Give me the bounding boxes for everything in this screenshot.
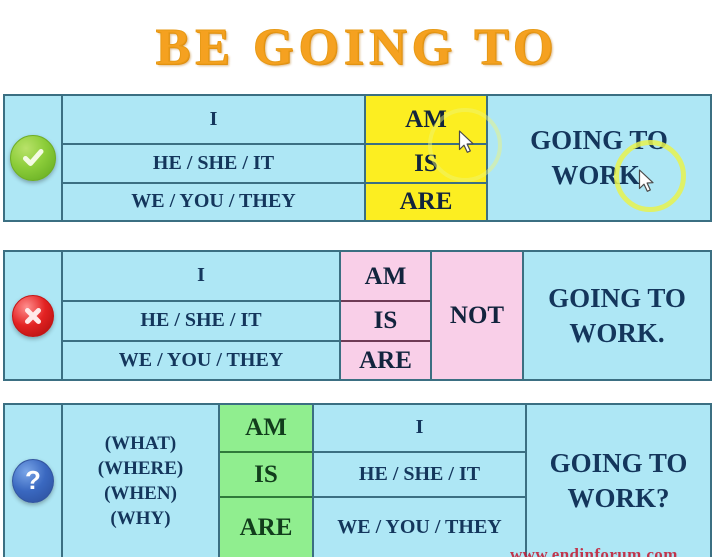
table-row: ARE <box>220 496 312 557</box>
interrogative-table: ? (WHAT) (WHERE) (WHEN) (WHY) AM IS ARE … <box>3 403 712 557</box>
interrogative-verb-column: AM IS ARE <box>218 405 312 557</box>
table-row: HE / SHE / IT <box>314 451 525 497</box>
x-circle-icon <box>12 295 54 337</box>
page-title: BE GOING TO <box>0 18 714 78</box>
question-words-column: (WHAT) (WHERE) (WHEN) (WHY) <box>61 405 218 557</box>
negative-predicate: GOING TO WORK. <box>524 252 710 379</box>
negative-subject-column: I HE / SHE / IT WE / YOU / THEY <box>61 252 339 379</box>
check-circle-icon <box>10 135 56 181</box>
table-row: ARE <box>341 340 430 379</box>
table-row: AM <box>220 405 312 451</box>
table-row: IS <box>366 143 486 181</box>
table-row: IS <box>220 451 312 497</box>
affirmative-verb-column: AM IS ARE <box>364 96 486 220</box>
interrogative-subject-column: I HE / SHE / IT WE / YOU / THEY <box>312 405 525 557</box>
negative-table: I HE / SHE / IT WE / YOU / THEY AM IS AR… <box>3 250 712 381</box>
affirmative-predicate-column: GOING TO WORK. <box>486 96 710 220</box>
question-word: (WHEN) <box>104 482 177 505</box>
negative-verb-column: AM IS ARE <box>339 252 430 379</box>
negative-badge-cell <box>5 252 61 379</box>
interrogative-badge-cell: ? <box>5 405 61 557</box>
affirmative-table: I HE / SHE / IT WE / YOU / THEY AM IS AR… <box>3 94 712 222</box>
affirmative-badge-cell <box>5 96 61 220</box>
question-circle-icon: ? <box>12 459 54 503</box>
table-row: I <box>314 405 525 451</box>
table-row: AM <box>366 96 486 143</box>
interrogative-predicate-column: GOING TO WORK? <box>525 405 710 557</box>
question-words-list: (WHAT) (WHERE) (WHEN) (WHY) <box>63 432 218 531</box>
table-row: IS <box>341 300 430 339</box>
affirmative-predicate: GOING TO WORK. <box>488 96 710 220</box>
interrogative-predicate: GOING TO WORK? <box>527 405 710 557</box>
question-mark-glyph: ? <box>25 467 41 493</box>
question-word: (WHERE) <box>98 457 184 480</box>
table-row: I <box>63 96 364 143</box>
question-word: (WHAT) <box>105 432 176 455</box>
table-row: WE / YOU / THEY <box>63 340 339 379</box>
question-word: (WHY) <box>110 507 170 530</box>
table-row: HE / SHE / IT <box>63 300 339 339</box>
affirmative-subject-column: I HE / SHE / IT WE / YOU / THEY <box>61 96 364 220</box>
negative-predicate-column: GOING TO WORK. <box>522 252 710 379</box>
table-row: WE / YOU / THEY <box>314 496 525 557</box>
table-row: ARE <box>366 182 486 220</box>
worksheet-page: BE GOING TO I HE / SHE / IT WE / YOU / T… <box>0 0 714 557</box>
negation-column: NOT <box>430 252 522 379</box>
table-row: AM <box>341 252 430 300</box>
table-row: HE / SHE / IT <box>63 143 364 181</box>
table-row: WE / YOU / THEY <box>63 182 364 220</box>
table-row: I <box>63 252 339 300</box>
negation-word: NOT <box>432 252 522 379</box>
site-watermark: www.endinforum.com <box>510 545 678 557</box>
